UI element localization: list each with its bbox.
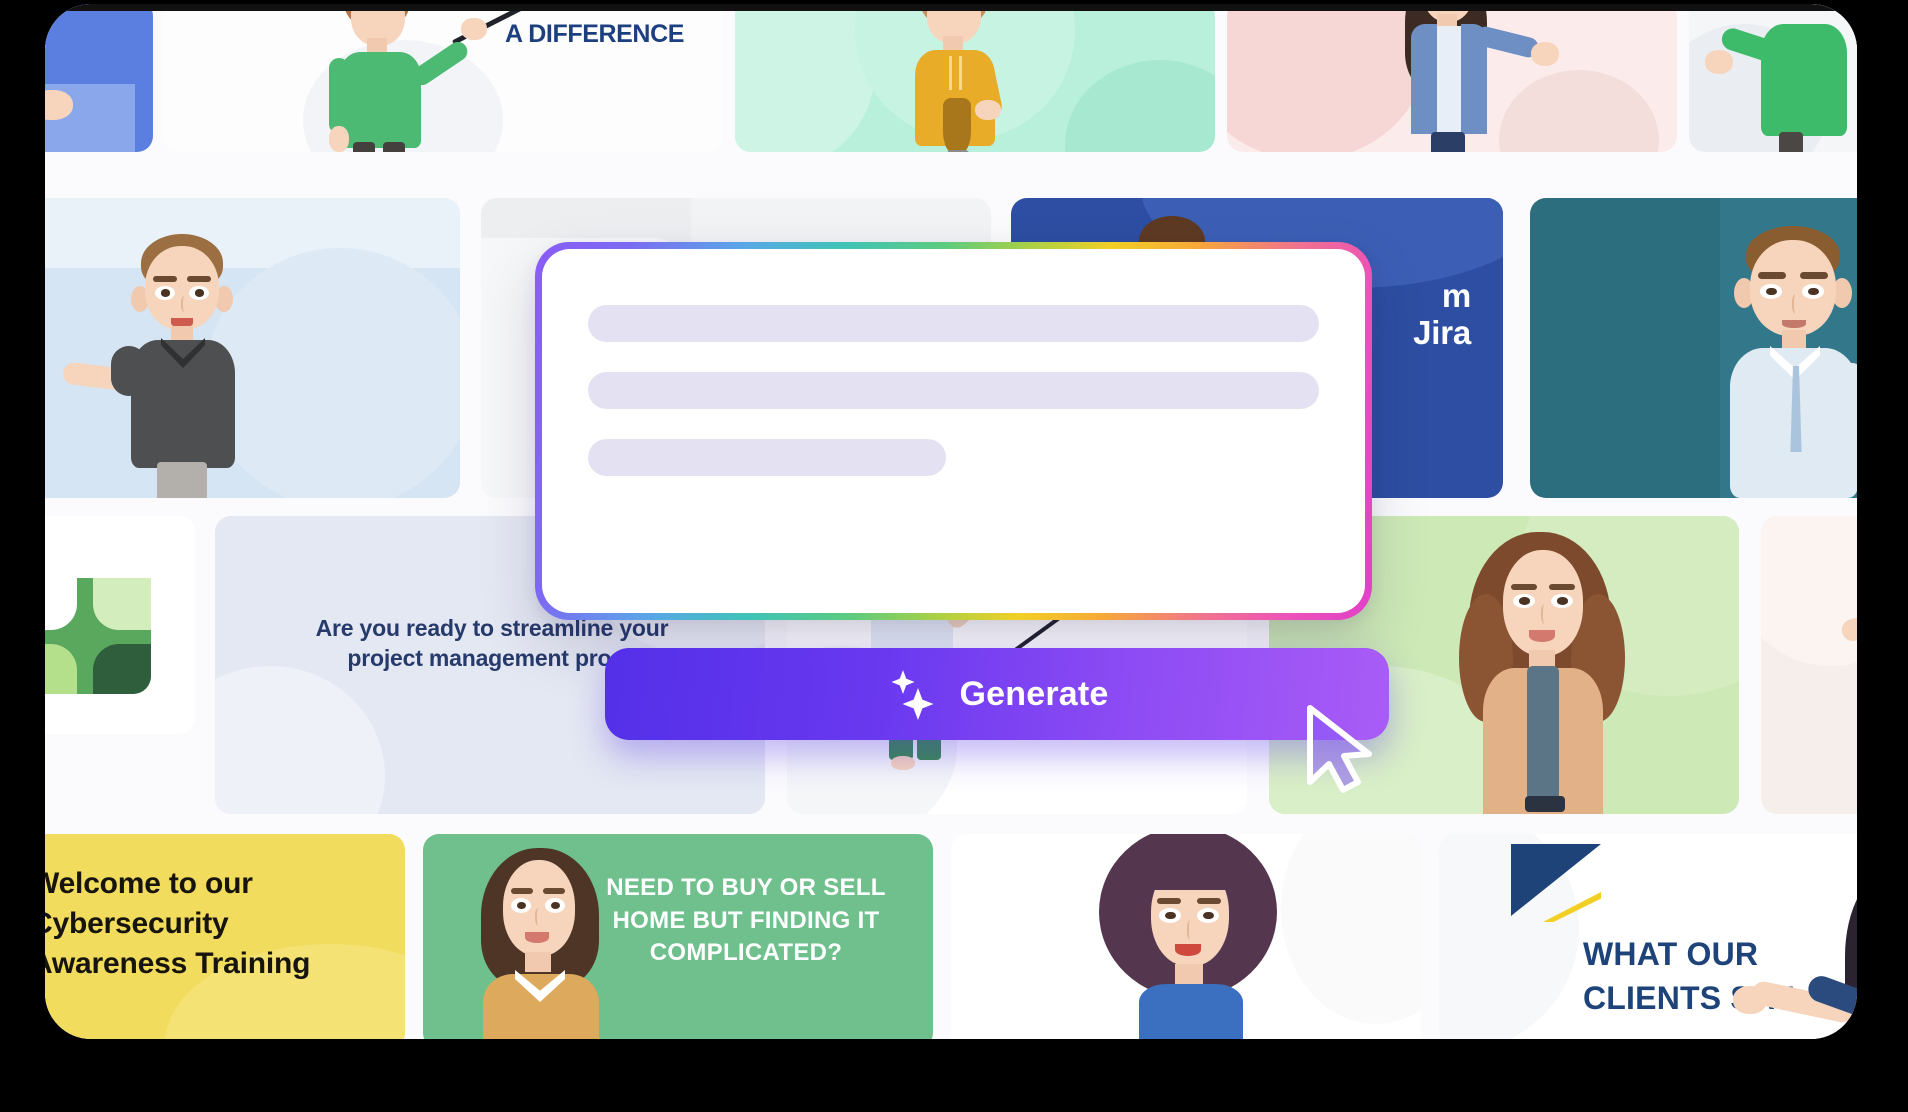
template-card-what-our-clients-say[interactable]: WHAT OUR CLIENTS SAY <box>1439 834 1857 1039</box>
template-card-pink-business-woman[interactable] <box>1227 4 1677 152</box>
card-label: A DIFFERENCE <box>505 20 684 48</box>
template-card-green-shapes[interactable]: g <box>45 516 195 734</box>
template-card-teal-shirt-tie-man[interactable] <box>1530 198 1857 498</box>
template-card-cybersecurity-awareness[interactable]: Welcome to our Cybersecurity Awareness T… <box>45 834 405 1039</box>
template-card-mint-yellow-hoodie[interactable] <box>735 4 1215 152</box>
card-label: NEED TO BUY OR SELL HOME BUT FINDING IT … <box>581 872 911 970</box>
template-card-blue-waving[interactable] <box>45 4 153 152</box>
template-card-pale-right-edge[interactable] <box>1761 516 1857 814</box>
window-title-bar <box>45 4 1857 11</box>
template-card-make-a-difference[interactable]: A DIFFERENCE <box>163 4 723 152</box>
template-card-afro-woman-white[interactable] <box>951 834 1421 1039</box>
sparkle-icon <box>885 668 937 720</box>
template-card-buy-or-sell-home[interactable]: NEED TO BUY OR SELL HOME BUT FINDING IT … <box>423 834 933 1039</box>
template-card-green-presenter-right[interactable] <box>1689 4 1857 152</box>
app-window: A DIFFERENCE <box>45 4 1857 1039</box>
template-card-lightblue-polo-man[interactable] <box>45 198 460 498</box>
skeleton-line <box>588 372 1319 409</box>
skeleton-line <box>588 439 946 476</box>
card-label: Welcome to our Cybersecurity Awareness T… <box>45 864 310 984</box>
template-gallery[interactable]: A DIFFERENCE <box>45 4 1857 1039</box>
generate-button[interactable]: Generate <box>605 648 1389 740</box>
generate-button-label: Generate <box>959 675 1108 714</box>
prompt-modal <box>535 242 1372 620</box>
mouse-pointer-icon <box>1303 704 1377 794</box>
skeleton-line <box>588 305 1319 342</box>
prompt-input-area[interactable] <box>542 249 1365 613</box>
